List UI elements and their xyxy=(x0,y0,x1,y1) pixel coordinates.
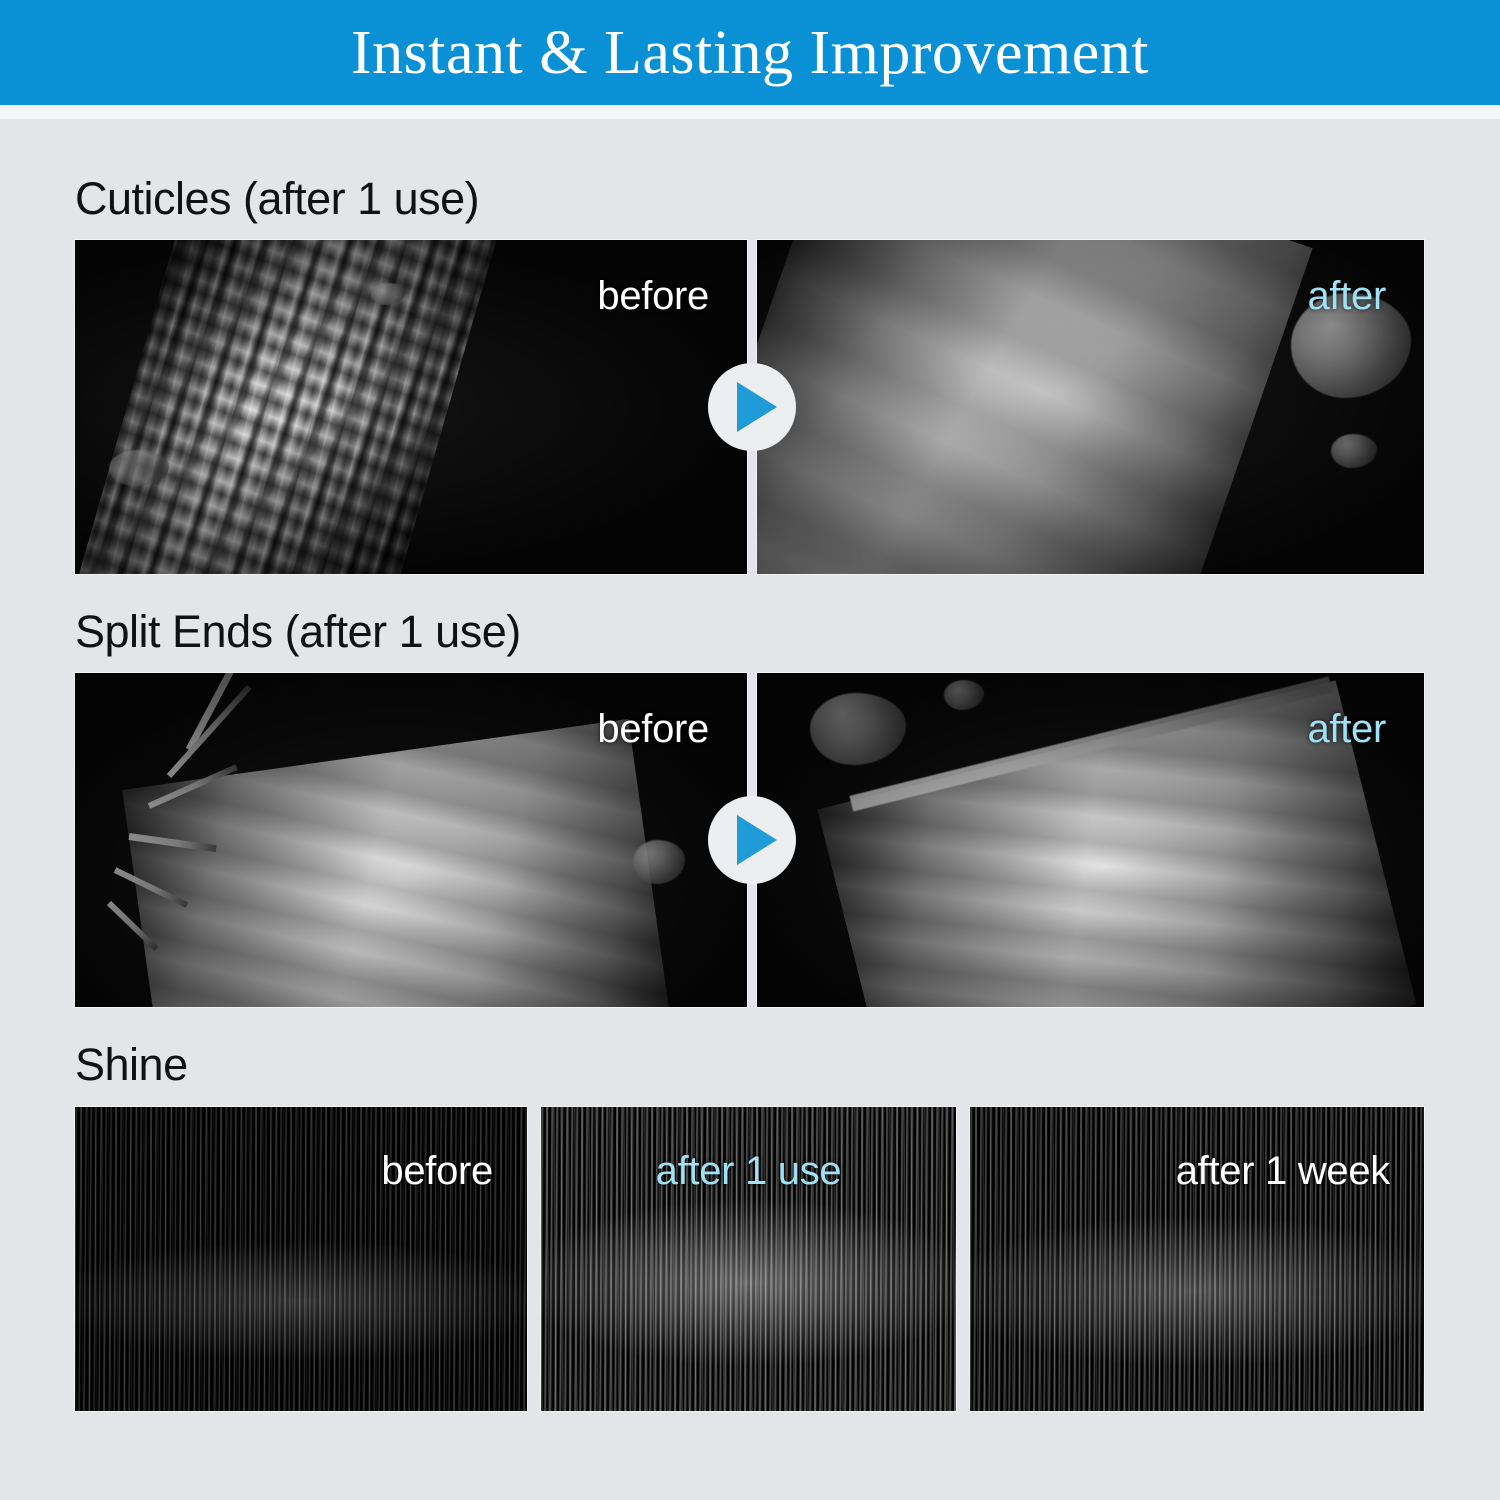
panel-label-shine-before: before xyxy=(381,1151,493,1191)
play-triangle-icon xyxy=(737,815,777,865)
section-heading-shine: Shine xyxy=(75,1042,188,1087)
panel-shine-before: before xyxy=(75,1107,527,1411)
panel-shine-after-1-use: after 1 use xyxy=(541,1107,956,1411)
panel-label-cuticles-after: after xyxy=(1307,276,1386,316)
page-title: Instant & Lasting Improvement xyxy=(351,22,1149,84)
panel-shine-after-1-week: after 1 week xyxy=(970,1107,1424,1411)
play-icon-cuticles[interactable] xyxy=(708,363,796,451)
panel-cuticles-after: after xyxy=(757,240,1424,574)
play-triangle-icon xyxy=(737,382,777,432)
header-underline xyxy=(0,105,1500,119)
panel-label-split-ends-after: after xyxy=(1307,709,1386,749)
panel-label-shine-after-1-week: after 1 week xyxy=(1176,1151,1390,1191)
panel-split-ends-before: before xyxy=(75,673,747,1007)
play-icon-split-ends[interactable] xyxy=(708,796,796,884)
content-area: Cuticles (after 1 use) before after Spli… xyxy=(0,119,1500,1500)
panel-label-shine-after-1-use: after 1 use xyxy=(541,1151,956,1191)
panel-label-split-ends-before: before xyxy=(597,709,709,749)
header-bar: Instant & Lasting Improvement xyxy=(0,0,1500,105)
panel-label-cuticles-before: before xyxy=(597,276,709,316)
panel-split-ends-after: after xyxy=(757,673,1424,1007)
panel-cuticles-before: before xyxy=(75,240,747,574)
section-heading-split-ends: Split Ends (after 1 use) xyxy=(75,609,521,654)
section-heading-cuticles: Cuticles (after 1 use) xyxy=(75,176,479,221)
